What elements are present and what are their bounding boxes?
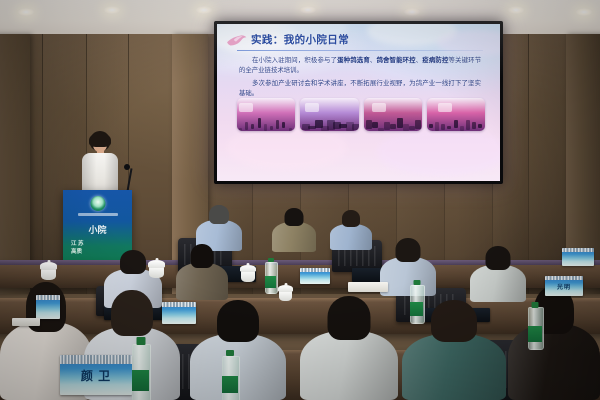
photo-classroom-lecture	[237, 98, 295, 131]
lid	[148, 260, 165, 268]
lid-knob	[47, 260, 50, 263]
water-bottle-center	[410, 280, 423, 322]
cup	[241, 271, 255, 282]
lid	[278, 285, 293, 292]
lid	[40, 262, 57, 270]
bottle-label	[265, 276, 276, 288]
water-bottle-front-left	[132, 337, 149, 400]
namecard-text: 光明	[545, 282, 583, 291]
lid-knob	[247, 263, 250, 266]
torso	[402, 334, 506, 400]
slide-paragraph-1: 在小院入驻期间，积极参与了蛋种鸽选育、鸽舍智能环控、疫病防控等关键环节的全产业链…	[239, 56, 481, 76]
attendee-mid-centerleft	[176, 244, 228, 300]
attendee-back-right	[330, 210, 372, 250]
bottle-label	[410, 302, 423, 316]
podium-main-text: 小院	[88, 223, 106, 236]
bottle-cap	[413, 280, 420, 285]
teacup-far-right	[278, 285, 293, 301]
downlight-1	[18, 8, 34, 16]
downlight-6	[508, 6, 524, 14]
slide-photo-strip	[237, 98, 485, 131]
downlight-7	[576, 8, 592, 16]
lid-knob	[284, 283, 287, 286]
water-bottle-front-mid	[222, 350, 238, 400]
speaker-shading	[82, 153, 118, 195]
downlight-5	[404, 8, 420, 16]
head	[328, 296, 371, 340]
head	[431, 300, 477, 342]
namecard-right: 光明	[545, 276, 583, 296]
head	[217, 300, 259, 342]
head	[191, 244, 214, 268]
downlight-4	[300, 6, 316, 14]
namecard-mid-center	[162, 302, 196, 324]
namecard-binding	[545, 276, 583, 280]
teacup-left	[40, 262, 57, 280]
water-bottle-back-right	[265, 258, 276, 292]
torso	[176, 263, 228, 300]
torso	[330, 224, 372, 250]
namecard-binding	[36, 295, 60, 300]
teacup-center	[148, 260, 165, 278]
namecard-binding	[562, 248, 594, 252]
attendee-front-far-right	[508, 286, 600, 400]
shading	[176, 263, 228, 300]
microphone-icon	[124, 164, 130, 170]
bottle-cap	[226, 350, 234, 356]
bottle-cap	[532, 302, 539, 308]
namecard-back-center	[300, 268, 330, 284]
downlight-3	[196, 6, 212, 14]
conference-hall-photo: 实践：我的小院日常 在小院入驻期间，积极参与了蛋种鸽选育、鸽舍智能环控、疫病防控…	[0, 0, 600, 400]
speaker-hair-front	[89, 133, 111, 147]
attendee-mid-center	[380, 238, 436, 296]
water-bottle-right	[528, 302, 542, 348]
namecard-front-left: 颜 卫	[60, 355, 132, 395]
bottle-cap	[136, 337, 145, 345]
shading	[508, 324, 600, 400]
bottle-label	[222, 376, 238, 393]
photo-award-ceremony	[427, 98, 485, 131]
shading	[380, 257, 436, 296]
documents-left	[12, 318, 40, 326]
downlight-2	[104, 6, 120, 14]
slide-paragraph-2: 多次参加产业研讨会和学术讲座，不断拓展行业视野，为鸽产业一线打下了坚实基础。	[239, 79, 481, 99]
slide-cloud-6	[377, 128, 500, 176]
cup	[41, 269, 56, 280]
speaker-presenter	[78, 131, 122, 193]
torso	[272, 222, 316, 252]
podium-sub-line-1: 江 苏	[71, 239, 84, 247]
podium-sub-line-2: 高质	[71, 247, 82, 255]
attendee-back-center	[272, 208, 316, 252]
presentation-slide: 实践：我的小院日常 在小院入驻期间，积极参与了蛋种鸽选育、鸽舍智能环控、疫病防控…	[217, 24, 500, 181]
led-presentation-screen: 实践：我的小院日常 在小院入驻期间，积极参与了蛋种鸽选育、鸽舍智能环控、疫病防控…	[214, 21, 503, 184]
documents-center	[348, 282, 388, 292]
head	[285, 208, 304, 226]
dove-icon	[226, 32, 248, 48]
head	[486, 246, 511, 270]
torso	[380, 257, 436, 296]
torso	[300, 331, 398, 400]
bottle-label	[528, 326, 542, 342]
lid-knob	[155, 258, 158, 261]
bottle-label	[132, 370, 149, 391]
head	[111, 290, 153, 336]
lid	[240, 265, 256, 272]
shading	[402, 334, 506, 400]
shading	[330, 224, 372, 250]
head	[396, 238, 421, 262]
slide-title-underline	[237, 50, 483, 51]
bottle-cap	[268, 258, 274, 262]
namecard-binding	[300, 268, 330, 272]
namecard-binding	[60, 355, 132, 364]
teacup-right	[240, 265, 256, 282]
head	[209, 205, 229, 224]
namecard-binding	[162, 302, 196, 307]
attendee-front-right	[300, 296, 398, 400]
torso	[508, 324, 600, 400]
slide-title: 实践：我的小院日常	[251, 32, 349, 47]
head	[120, 250, 146, 274]
cup	[279, 291, 292, 301]
slide-cloud-4	[437, 30, 500, 56]
institute-emblem-icon	[90, 196, 105, 211]
shading	[300, 331, 398, 400]
namecard-mid-left	[36, 295, 60, 319]
head	[342, 210, 360, 227]
podium-org-banner	[78, 213, 118, 216]
slide-body-text: 在小院入驻期间，积极参与了蛋种鸽选育、鸽舍智能环控、疫病防控等关键环节的全产业链…	[239, 56, 481, 102]
photo-poultry-house	[300, 98, 358, 131]
cup	[149, 267, 164, 278]
photo-conference-hall	[364, 98, 422, 131]
namecard-far-right	[562, 248, 594, 266]
shading	[272, 222, 316, 252]
namecard-text: 颜 卫	[60, 367, 132, 384]
